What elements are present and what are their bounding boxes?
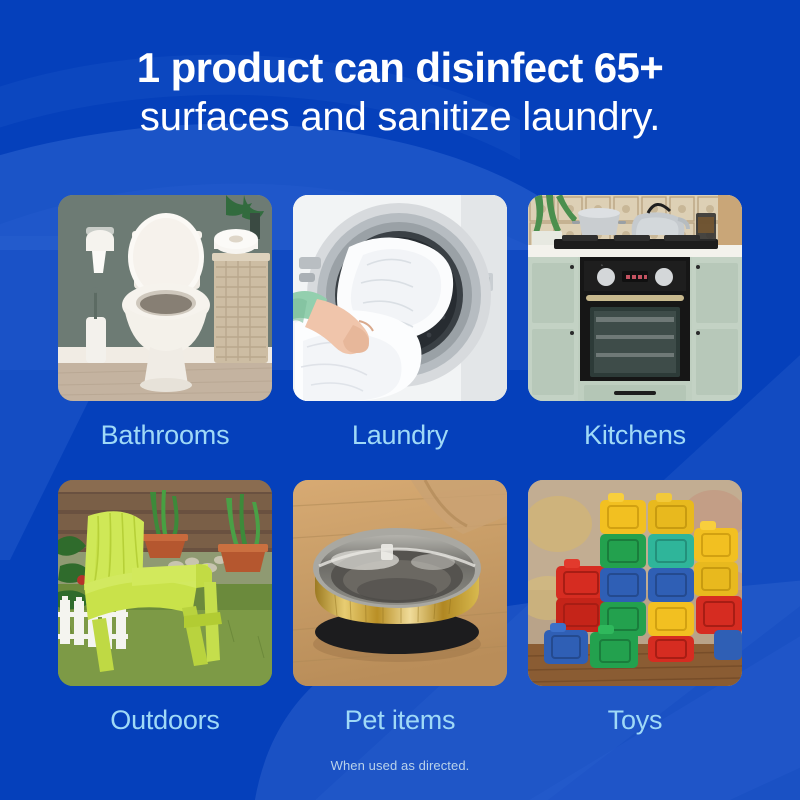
category-label-kitchens: Kitchens (528, 420, 742, 450)
category-cell-toys[interactable]: Toys (528, 480, 742, 765)
promo-graphic: 1 product can disinfect 65+ surfaces and… (0, 0, 800, 800)
pet-food-bowl-photo (293, 480, 507, 686)
bathroom-toilet-photo (58, 195, 272, 401)
outdoor-patio-chair-photo (58, 480, 272, 686)
category-label-laundry: Laundry (293, 420, 507, 450)
kitchen-oven-stove-photo: ◔ (528, 195, 742, 401)
category-cell-laundry[interactable]: Laundry (293, 195, 507, 480)
headline-line-1: 1 product can disinfect 65+ (0, 44, 800, 92)
category-cell-kitchens[interactable]: ◔ (528, 195, 742, 480)
category-cell-bathrooms[interactable]: Bathrooms (58, 195, 272, 480)
footnote-disclaimer: When used as directed. (0, 758, 800, 773)
category-cell-pet-items[interactable]: Pet items (293, 480, 507, 765)
laundry-washing-machine-photo (293, 195, 507, 401)
svg-text:◔: ◔ (600, 263, 603, 269)
headline: 1 product can disinfect 65+ surfaces and… (0, 44, 800, 142)
toy-building-blocks-photo (528, 480, 742, 686)
category-grid: Bathrooms (58, 195, 742, 765)
headline-line-2: surfaces and sanitize laundry. (0, 92, 800, 142)
category-label-bathrooms: Bathrooms (58, 420, 272, 450)
category-label-toys: Toys (528, 705, 742, 735)
category-label-outdoors: Outdoors (58, 705, 272, 735)
category-label-pet-items: Pet items (293, 705, 507, 735)
category-cell-outdoors[interactable]: Outdoors (58, 480, 272, 765)
